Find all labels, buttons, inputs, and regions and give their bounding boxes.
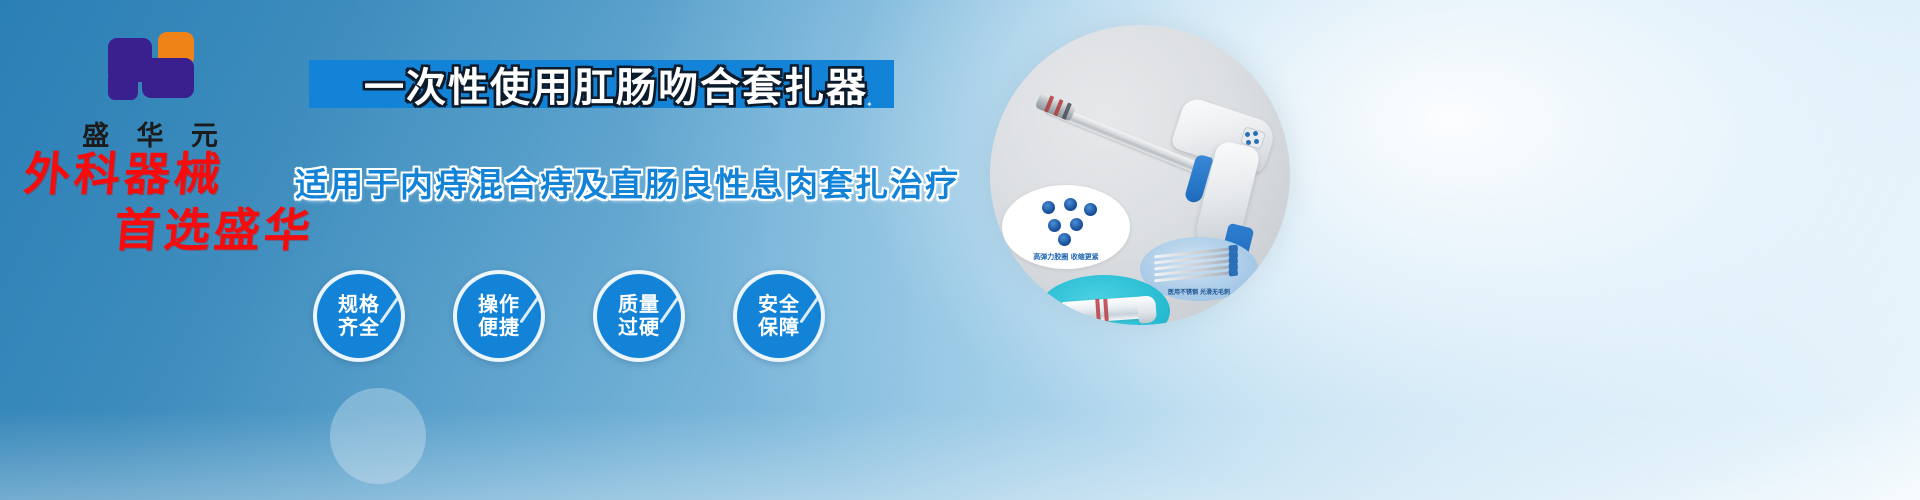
page-title: 一次性使用肛肠吻合套扎器 — [316, 56, 916, 112]
feature-label-3-line1: 安全 — [758, 293, 800, 316]
product-photo: 高弹力胶圈 收缩更紧 医用不锈钢 光滑无毛刺 — [990, 25, 1290, 325]
feature-circle-0[interactable]: 规格 齐全 — [313, 270, 405, 362]
subtitle: 适用于内痔混合痔及直肠良性息肉套扎治疗 — [295, 158, 915, 206]
button-dot — [1245, 132, 1250, 137]
feature-label-1-line1: 操作 — [478, 293, 520, 316]
tip-band — [1062, 102, 1072, 119]
geometric-blocks-logo-icon — [108, 28, 192, 106]
promo-banner: 盛 华 元 外科器械 首选盛华 一次性使用肛肠吻合套扎器 ✦ ✦ ✦ 适用于内痔… — [0, 0, 1920, 500]
sparkle-icon: ✦ — [855, 70, 865, 84]
feature-label-3-line2: 保障 — [758, 316, 800, 339]
rubber-band-dot — [1070, 218, 1083, 231]
logo-block-purple-3 — [108, 72, 138, 100]
slash-decor — [379, 291, 403, 324]
brand-logo: 盛 华 元 — [60, 28, 240, 153]
feature-label-0-line2: 齐全 — [338, 316, 380, 339]
button-dot — [1246, 140, 1251, 145]
rubber-band-dot — [1084, 203, 1097, 216]
feature-circle-3[interactable]: 安全 保障 — [733, 270, 825, 362]
logo-block-purple-2 — [142, 58, 194, 98]
bottom-fade — [0, 410, 1920, 500]
rubber-band-dot — [1064, 198, 1077, 211]
feature-label-0-line1: 规格 — [338, 293, 380, 316]
tip-band — [1053, 99, 1063, 116]
feature-circle-2[interactable]: 质量 过硬 — [593, 270, 685, 362]
decorative-circle — [330, 388, 426, 484]
feature-circle-1[interactable]: 操作 便捷 — [453, 270, 545, 362]
feature-label-1-line2: 便捷 — [478, 316, 520, 339]
button-dot — [1254, 139, 1259, 144]
rubber-band-dot — [1048, 219, 1061, 232]
needle-head — [1228, 269, 1238, 277]
product-photo-circle: 高弹力胶圈 收缩更紧 医用不锈钢 光滑无毛刺 — [990, 25, 1290, 325]
sparkle-icon: ✦ — [838, 96, 846, 106]
slash-decor — [519, 291, 543, 324]
slogan-line-2: 首选盛华 — [112, 206, 350, 256]
feature-label-2-line1: 质量 — [618, 293, 660, 316]
sparkle-icon: ✦ — [866, 100, 873, 109]
rubber-bands-inset: 高弹力胶圈 收缩更紧 — [1002, 185, 1130, 269]
feature-label-2-line2: 过硬 — [618, 316, 660, 339]
slash-decor — [799, 291, 823, 324]
rubber-band-dot — [1042, 201, 1055, 214]
rubber-bands-caption: 高弹力胶圈 收缩更紧 — [1002, 252, 1130, 262]
rubber-band-dot — [1058, 233, 1071, 246]
cannula-cap — [1137, 295, 1157, 323]
slash-decor — [659, 291, 683, 324]
tip-band — [1044, 95, 1054, 112]
button-dot — [1253, 131, 1258, 136]
feature-circle-list: 规格 齐全 操作 便捷 质量 过硬 安全 保障 — [305, 270, 865, 400]
